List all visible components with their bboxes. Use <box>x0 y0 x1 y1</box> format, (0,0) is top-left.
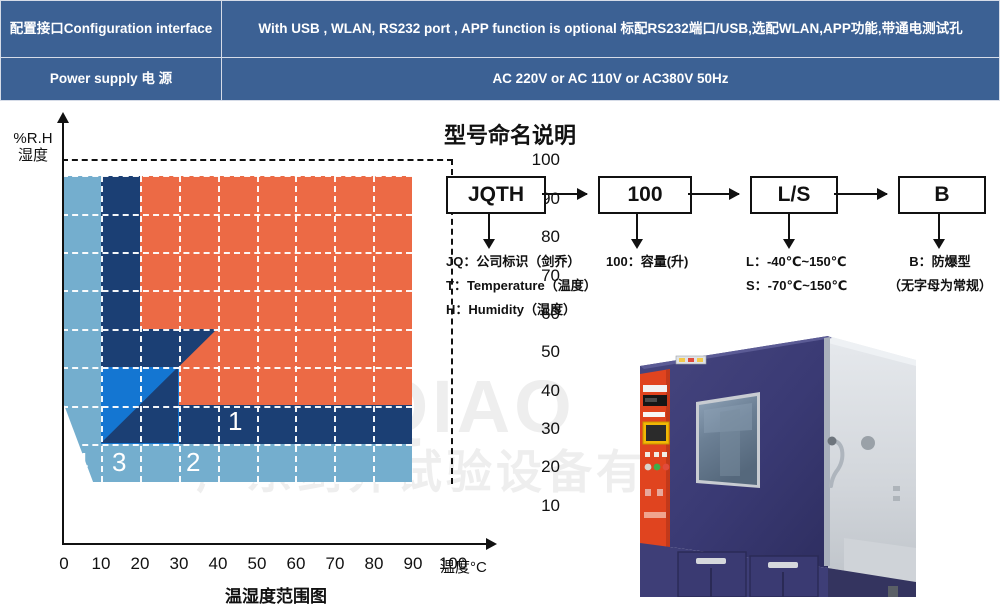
x-axis-arrow-icon <box>486 538 497 550</box>
model-drop-arrow-3 <box>788 212 790 240</box>
x-tick-10: 10 <box>81 554 121 574</box>
y-tick-10: 10 <box>508 496 560 516</box>
model-box-explosion-proof: B <box>898 176 986 214</box>
y-axis-arrow-icon <box>57 112 69 123</box>
x-tick-100: 100 <box>433 554 473 574</box>
model-arrow-1 <box>542 193 587 195</box>
y-tick-30: 30 <box>508 419 560 439</box>
chart-region-label-1: 1 <box>228 408 242 434</box>
model-drop-arrow-1 <box>488 212 490 240</box>
x-tick-0: 0 <box>44 554 84 574</box>
model-legend-series: JQ：公司标识（剑乔） T：Temperature（温度） H：Humidity… <box>446 250 597 322</box>
x-tick-50: 50 <box>237 554 277 574</box>
chart-region-label-4: 4 <box>74 449 88 475</box>
chart-caption: 温湿度范围图 <box>62 582 490 607</box>
model-legend-capacity: 100：容量(升) <box>606 250 688 274</box>
chart-plot-area: 1 2 3 4 <box>62 122 490 543</box>
y-tick-50: 50 <box>508 342 560 362</box>
chart-region-label-2: 2 <box>186 449 200 475</box>
x-axis-line <box>62 543 490 545</box>
model-naming-title: 型号命名说明 <box>444 118 576 150</box>
y-tick-40: 40 <box>508 381 560 401</box>
model-legend-temperature-line-1: L：-40℃~150℃ <box>746 250 847 274</box>
x-tick-80: 80 <box>354 554 394 574</box>
y-tick-20: 20 <box>508 457 560 477</box>
x-tick-30: 30 <box>159 554 199 574</box>
model-box-series: JQTH <box>446 176 546 214</box>
spec-value-power-supply: AC 220V or AC 110V or AC380V 50Hz <box>222 58 1000 101</box>
model-box-capacity: 100 <box>598 176 692 214</box>
model-arrow-2 <box>688 193 739 195</box>
x-tick-40: 40 <box>198 554 238 574</box>
y-axis-line <box>62 122 64 544</box>
test-chamber-illustration <box>600 300 1000 597</box>
x-tick-20: 20 <box>120 554 160 574</box>
model-legend-temperature-line-2: S：-70℃~150℃ <box>746 274 847 298</box>
model-naming-diagram: 型号命名说明 JQTH 100 L/S B JQ：公司标识（剑乔） T：Temp… <box>440 110 1000 325</box>
spec-label-configuration-interface: 配置接口Configuration interface <box>1 1 222 58</box>
x-tick-90: 90 <box>393 554 433 574</box>
model-legend-series-line-3: H：Humidity（湿度） <box>446 298 597 322</box>
model-arrow-3 <box>834 193 887 195</box>
product-photo <box>600 300 1000 597</box>
model-legend-temperature: L：-40℃~150℃ S：-70℃~150℃ <box>746 250 847 298</box>
spec-label-power-supply: Power supply 电 源 <box>1 58 222 101</box>
model-drop-arrow-4 <box>938 212 940 240</box>
model-legend-explosion: B：防爆型 （无字母为常规） <box>878 250 1000 298</box>
model-legend-capacity-line-1: 100：容量(升) <box>606 250 688 274</box>
model-legend-explosion-line-1: B：防爆型 <box>878 250 1000 274</box>
model-legend-series-line-2: T：Temperature（温度） <box>446 274 597 298</box>
model-legend-explosion-line-2: （无字母为常规） <box>878 274 1000 298</box>
model-drop-arrow-2 <box>636 212 638 240</box>
chart-region-label-3: 3 <box>112 449 126 475</box>
specification-table: 配置接口Configuration interface With USB , W… <box>0 0 1000 101</box>
spec-value-configuration-interface: With USB , WLAN, RS232 port , APP functi… <box>222 1 1000 58</box>
table-row: 配置接口Configuration interface With USB , W… <box>1 1 1000 58</box>
model-box-temperature-range: L/S <box>750 176 838 214</box>
x-tick-60: 60 <box>276 554 316 574</box>
chart-boundary-dashed <box>62 159 453 484</box>
table-row: Power supply 电 源 AC 220V or AC 110V or A… <box>1 58 1000 101</box>
model-legend-series-line-1: JQ：公司标识（剑乔） <box>446 250 597 274</box>
x-tick-70: 70 <box>315 554 355 574</box>
y-axis-title: %R.H 湿度 <box>6 130 60 165</box>
